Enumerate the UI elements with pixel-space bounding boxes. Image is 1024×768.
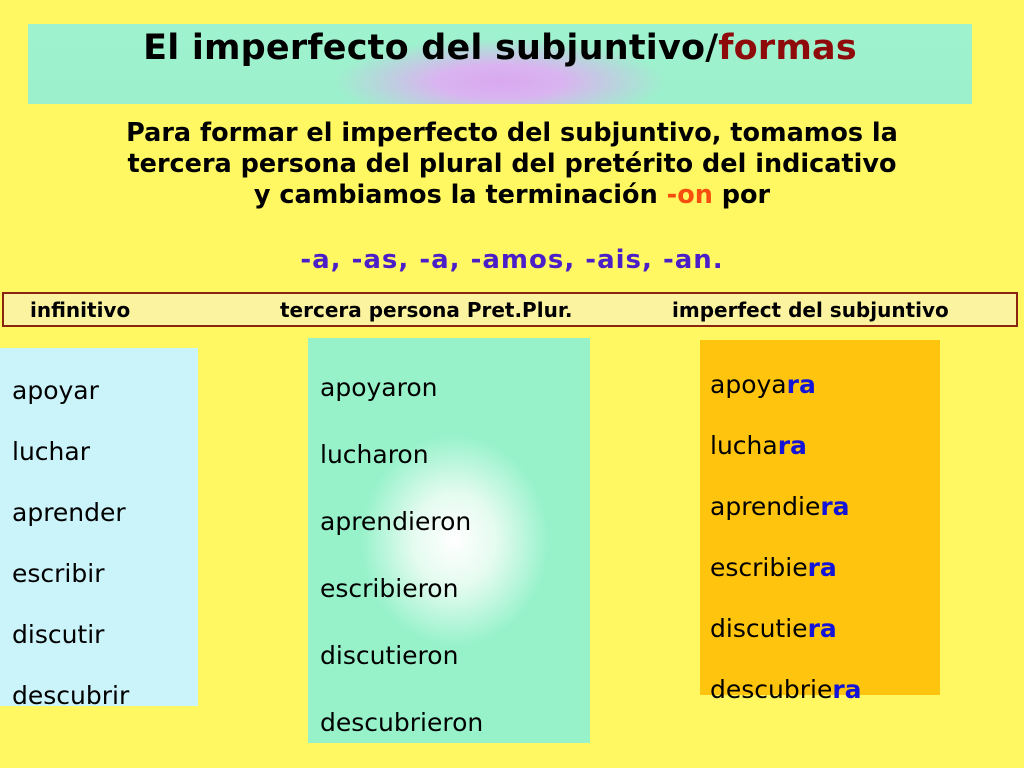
column-subjunctive: apoyara luchara aprendiera escribiera di… (700, 340, 940, 695)
column-infinitivo: apoyar luchar aprender escribir discutir… (0, 348, 198, 706)
word-stem: apoya (710, 370, 787, 399)
list-item: escribir (12, 543, 198, 604)
intro-highlight-on: -on (667, 180, 713, 210)
word-stem: discutie (710, 614, 808, 643)
intro-line-3-after: por (713, 180, 770, 210)
intro-paragraph: Para formar el imperfecto del subjuntivo… (0, 118, 1024, 211)
list-item: apoyara (710, 354, 940, 415)
word-ending: ra (808, 553, 837, 582)
word-stem: escribie (710, 553, 808, 582)
table-header-strip: infinitivo tercera persona Pret.Plur. im… (2, 292, 1018, 327)
column-header-subjunctive: imperfect del subjuntivo (672, 298, 949, 322)
list-item: discutieron (320, 622, 590, 689)
list-item: apoyar (12, 360, 198, 421)
intro-line-3: y cambiamos la terminación -on por (0, 180, 1024, 211)
word-stem: descubrie (710, 675, 832, 704)
endings-list: -a, -as, -a, -amos, -ais, -an. (0, 245, 1024, 275)
list-item: descubrir (12, 665, 198, 726)
title-banner: El imperfecto del subjuntivo/formas (28, 24, 972, 104)
list-item: aprendieron (320, 488, 590, 555)
column-header-infinitivo: infinitivo (30, 298, 130, 322)
list-item: luchar (12, 421, 198, 482)
page-title: El imperfecto del subjuntivo/formas (28, 24, 972, 70)
list-item: lucharon (320, 421, 590, 488)
word-ending: ra (808, 614, 837, 643)
intro-line-1: Para formar el imperfecto del subjuntivo… (0, 118, 1024, 149)
list-item: descubriera (710, 659, 940, 720)
title-accent-text: formas (718, 28, 857, 68)
word-stem: aprendie (710, 492, 820, 521)
list-item: apoyaron (320, 354, 590, 421)
list-item: aprender (12, 482, 198, 543)
word-ending: ra (820, 492, 849, 521)
list-item: aprendiera (710, 476, 940, 537)
intro-line-2: tercera persona del plural del pretérito… (0, 149, 1024, 180)
list-item: escribieron (320, 555, 590, 622)
word-stem: lucha (710, 431, 778, 460)
list-item: discutiera (710, 598, 940, 659)
list-item: luchara (710, 415, 940, 476)
word-ending: ra (778, 431, 807, 460)
title-main-text: El imperfecto del subjuntivo/ (143, 28, 718, 68)
column-header-preterite: tercera persona Pret.Plur. (280, 298, 572, 322)
word-ending: ra (787, 370, 816, 399)
list-item: discutir (12, 604, 198, 665)
list-item: descubrieron (320, 689, 590, 756)
column-preterite: apoyaron lucharon aprendieron escribiero… (308, 338, 590, 743)
word-ending: ra (832, 675, 861, 704)
intro-line-3-before: y cambiamos la terminación (254, 180, 667, 210)
list-item: escribiera (710, 537, 940, 598)
